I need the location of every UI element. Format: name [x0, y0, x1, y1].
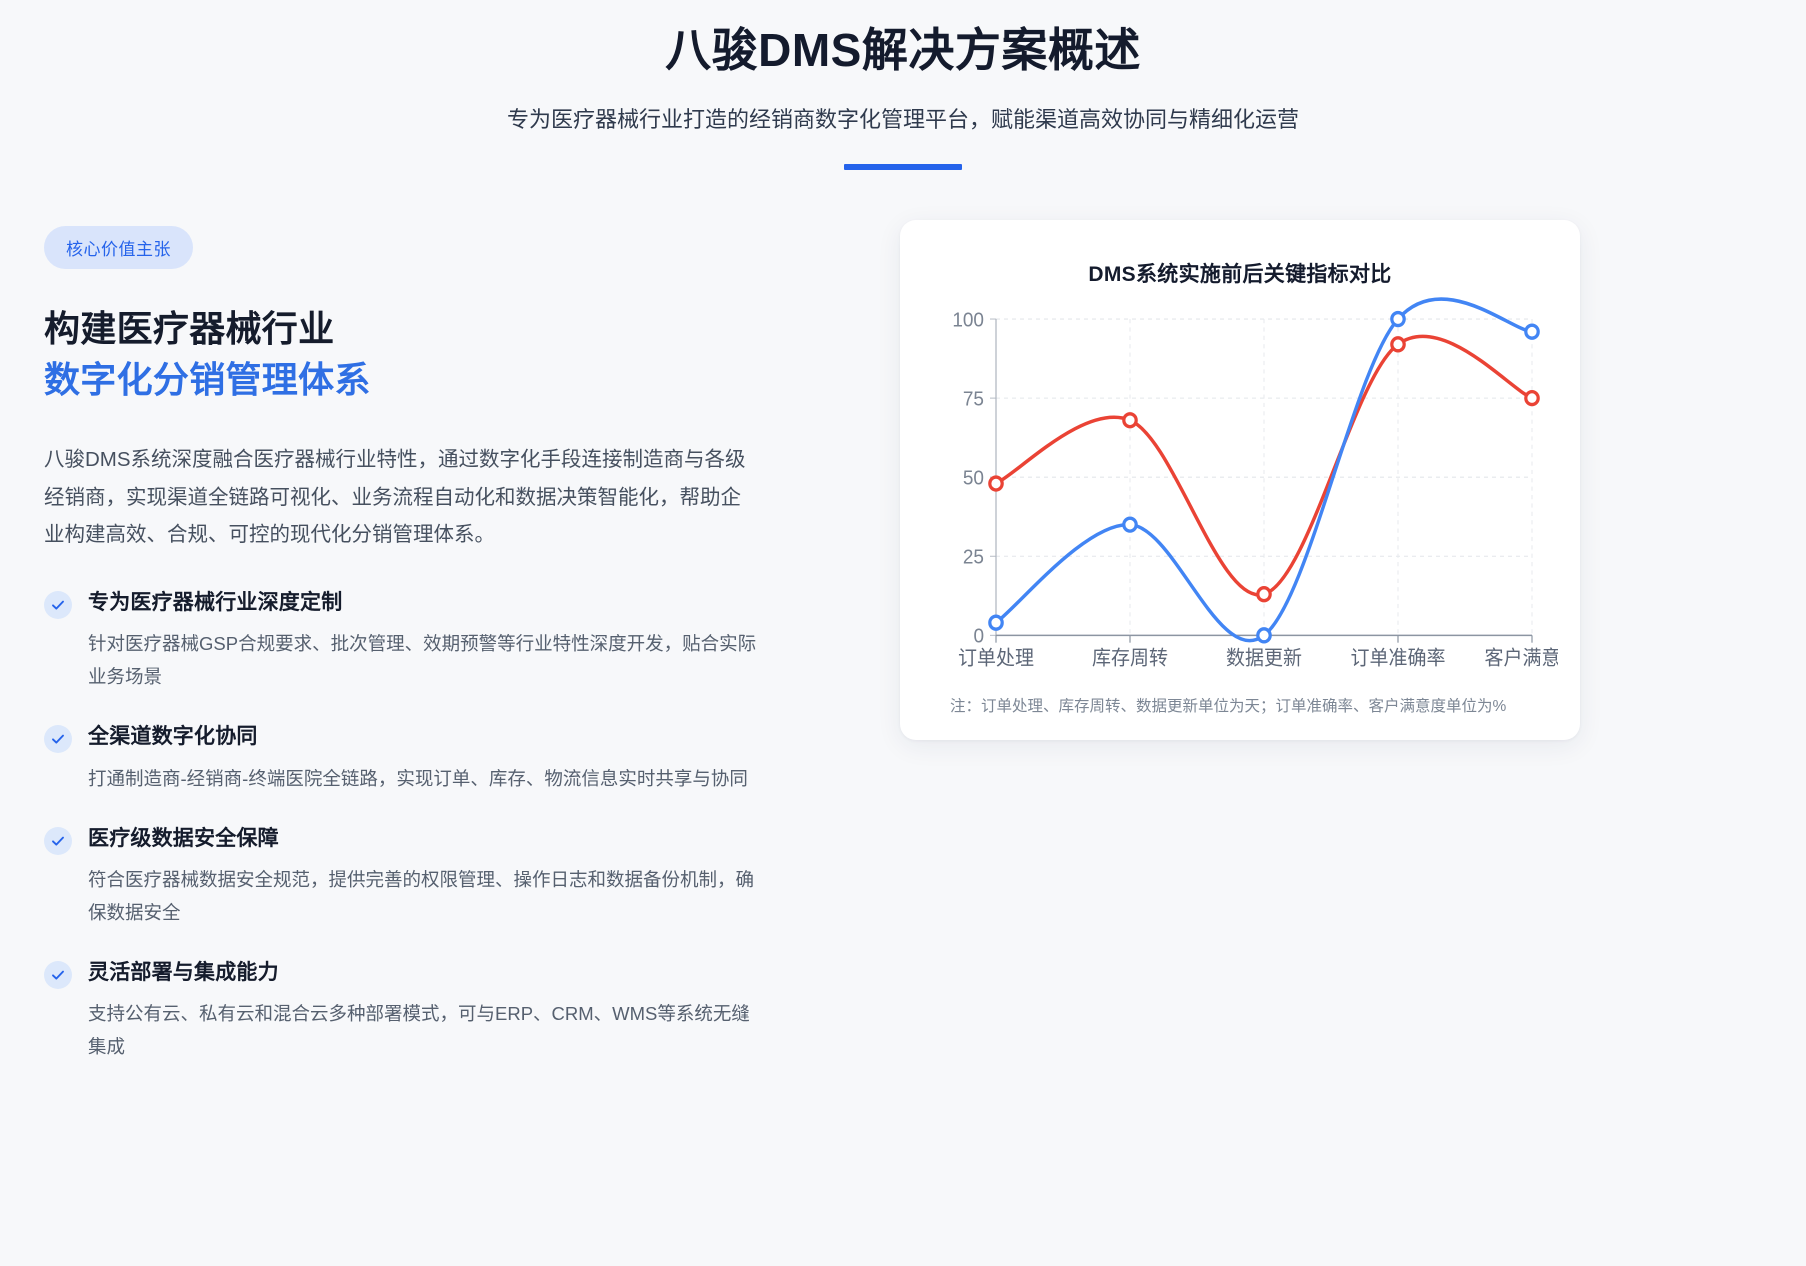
page-root: 八骏DMS解决方案概述 专为医疗器械行业打造的经销商数字化管理平台，赋能渠道高效… [0, 0, 1806, 1266]
headline-line-2: 数字化分销管理体系 [44, 354, 840, 405]
data-point-实施后-数据更新[interactable] [1258, 629, 1270, 642]
main-content: 核心价值主张 构建医疗器械行业 数字化分销管理体系 八骏DMS系统深度融合医疗器… [0, 196, 1806, 1266]
check-icon [44, 591, 72, 619]
check-icon [44, 961, 72, 989]
feature-description: 针对医疗器械GSP合规要求、批次管理、效期预警等行业特性深度开发，贴合实际业务场… [88, 628, 760, 693]
page-header: 八骏DMS解决方案概述 专为医疗器械行业打造的经销商数字化管理平台，赋能渠道高效… [0, 0, 1806, 170]
section-badge: 核心价值主张 [44, 226, 193, 269]
headline: 构建医疗器械行业 数字化分销管理体系 [44, 303, 840, 405]
x-axis-category-label: 客户满意度 [1485, 647, 1558, 670]
feature-description: 符合医疗器械数据安全规范，提供完善的权限管理、操作日志和数据备份机制，确保数据安… [88, 864, 760, 929]
feature-title: 灵活部署与集成能力 [88, 959, 774, 987]
y-axis-tick-label: 100 [952, 309, 984, 332]
headline-line-1: 构建医疗器械行业 [44, 303, 840, 354]
data-point-实施前-客户满意度[interactable] [1526, 392, 1538, 405]
feature-item: 全渠道数字化协同 打通制造商-经销商-终端医院全链路，实现订单、库存、物流信息实… [44, 723, 774, 795]
feature-item: 灵活部署与集成能力 支持公有云、私有云和混合云多种部署模式，可与ERP、CRM、… [44, 959, 774, 1063]
feature-body: 全渠道数字化协同 打通制造商-经销商-终端医院全链路，实现订单、库存、物流信息实… [88, 723, 774, 795]
data-point-实施后-客户满意度[interactable] [1526, 325, 1538, 338]
x-axis-category-label: 数据更新 [1226, 647, 1302, 670]
check-icon [44, 827, 72, 855]
page-subtitle: 专为医疗器械行业打造的经销商数字化管理平台，赋能渠道高效协同与精细化运营 [0, 102, 1806, 134]
data-point-实施后-订单准确率[interactable] [1392, 313, 1404, 326]
metrics-comparison-card: DMS系统实施前后关键指标对比 0255075100订单处理库存周转数据更新订单… [900, 220, 1580, 740]
feature-description: 打通制造商-经销商-终端医院全链路，实现订单、库存、物流信息实时共享与协同 [88, 763, 760, 795]
x-axis-category-label: 订单处理 [958, 647, 1034, 670]
line-chart: 0255075100订单处理库存周转数据更新订单准确率客户满意度 [922, 296, 1558, 694]
x-axis-category-label: 库存周转 [1092, 647, 1168, 670]
feature-title: 全渠道数字化协同 [88, 723, 774, 751]
feature-list: 专为医疗器械行业深度定制 针对医疗器械GSP合规要求、批次管理、效期预警等行业特… [44, 589, 774, 1063]
value-proposition-column: 核心价值主张 构建医疗器械行业 数字化分销管理体系 八骏DMS系统深度融合医疗器… [0, 196, 900, 1093]
chart-canvas: 0255075100订单处理库存周转数据更新订单准确率客户满意度 [922, 296, 1558, 694]
feature-item: 医疗级数据安全保障 符合医疗器械数据安全规范，提供完善的权限管理、操作日志和数据… [44, 825, 774, 929]
chart-footnote: 注：订单处理、库存周转、数据更新单位为天；订单准确率、客户满意度单位为% [922, 694, 1558, 722]
feature-body: 专为医疗器械行业深度定制 针对医疗器械GSP合规要求、批次管理、效期预警等行业特… [88, 589, 774, 693]
y-axis-tick-label: 0 [973, 625, 984, 648]
data-point-实施前-订单准确率[interactable] [1392, 338, 1404, 351]
y-axis-tick-label: 50 [963, 467, 984, 490]
data-point-实施前-订单处理[interactable] [990, 477, 1002, 490]
feature-title: 医疗级数据安全保障 [88, 825, 774, 853]
feature-body: 医疗级数据安全保障 符合医疗器械数据安全规范，提供完善的权限管理、操作日志和数据… [88, 825, 774, 929]
data-point-实施前-库存周转[interactable] [1124, 414, 1136, 427]
feature-title: 专为医疗器械行业深度定制 [88, 589, 774, 617]
data-point-实施前-数据更新[interactable] [1258, 588, 1270, 601]
intro-paragraph: 八骏DMS系统深度融合医疗器械行业特性，通过数字化手段连接制造商与各级经销商，实… [44, 441, 759, 553]
title-underline-accent [844, 164, 962, 170]
y-axis-tick-label: 75 [963, 388, 984, 411]
data-point-实施后-订单处理[interactable] [990, 616, 1002, 629]
data-point-实施后-库存周转[interactable] [1124, 518, 1136, 531]
check-icon [44, 725, 72, 753]
y-axis-tick-label: 25 [963, 546, 984, 569]
feature-item: 专为医疗器械行业深度定制 针对医疗器械GSP合规要求、批次管理、效期预警等行业特… [44, 589, 774, 693]
chart-title: DMS系统实施前后关键指标对比 [922, 258, 1558, 288]
page-title: 八骏DMS解决方案概述 [0, 22, 1806, 80]
feature-description: 支持公有云、私有云和混合云多种部署模式，可与ERP、CRM、WMS等系统无缝集成 [88, 998, 760, 1063]
feature-body: 灵活部署与集成能力 支持公有云、私有云和混合云多种部署模式，可与ERP、CRM、… [88, 959, 774, 1063]
x-axis-category-label: 订单准确率 [1351, 647, 1446, 670]
chart-column: DMS系统实施前后关键指标对比 0255075100订单处理库存周转数据更新订单… [900, 196, 1806, 740]
